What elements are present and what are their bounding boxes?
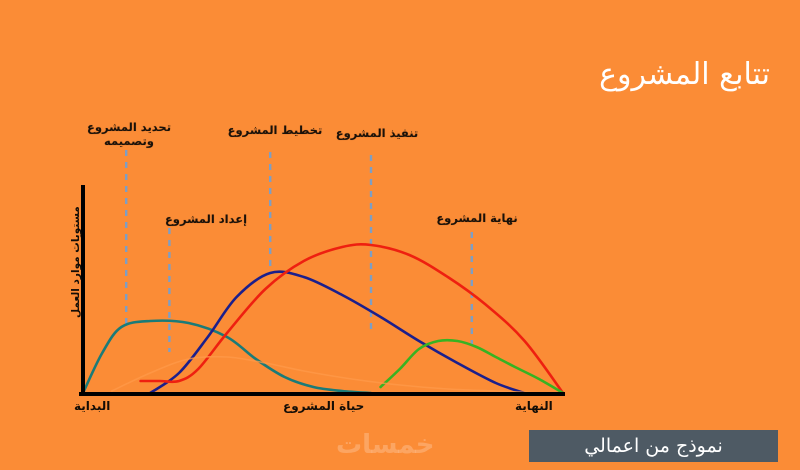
footer-badge-label: نموذج من اعمالي (584, 435, 723, 457)
x-axis-end-label: النهاية (515, 399, 553, 413)
y-axis-label: مستويات موارد العمل (70, 206, 82, 318)
x-axis-center-label: حياة المشروع (283, 399, 364, 413)
annotation-label-1: إعداد المشروع (156, 212, 256, 226)
watermark: خمسات (336, 430, 435, 460)
curve-lines-group (83, 244, 563, 393)
annotation-label-4: نهاية المشروع (427, 211, 527, 225)
x-axis-start-label: البداية (74, 399, 110, 413)
screenshot-root: تتابع المشروع تحديد المشروع وتصميمه إعدا… (0, 0, 800, 470)
annotation-label-0: تحديد المشروع وتصميمه (84, 120, 174, 149)
curve-series-2 (141, 244, 563, 393)
footer-badge: نموذج من اعمالي (529, 430, 778, 462)
annotation-label-2: تخطيط المشروع (225, 123, 325, 137)
annotation-label-3: تنفيذ المشروع (327, 126, 427, 140)
project-sequence-chart (0, 0, 800, 470)
